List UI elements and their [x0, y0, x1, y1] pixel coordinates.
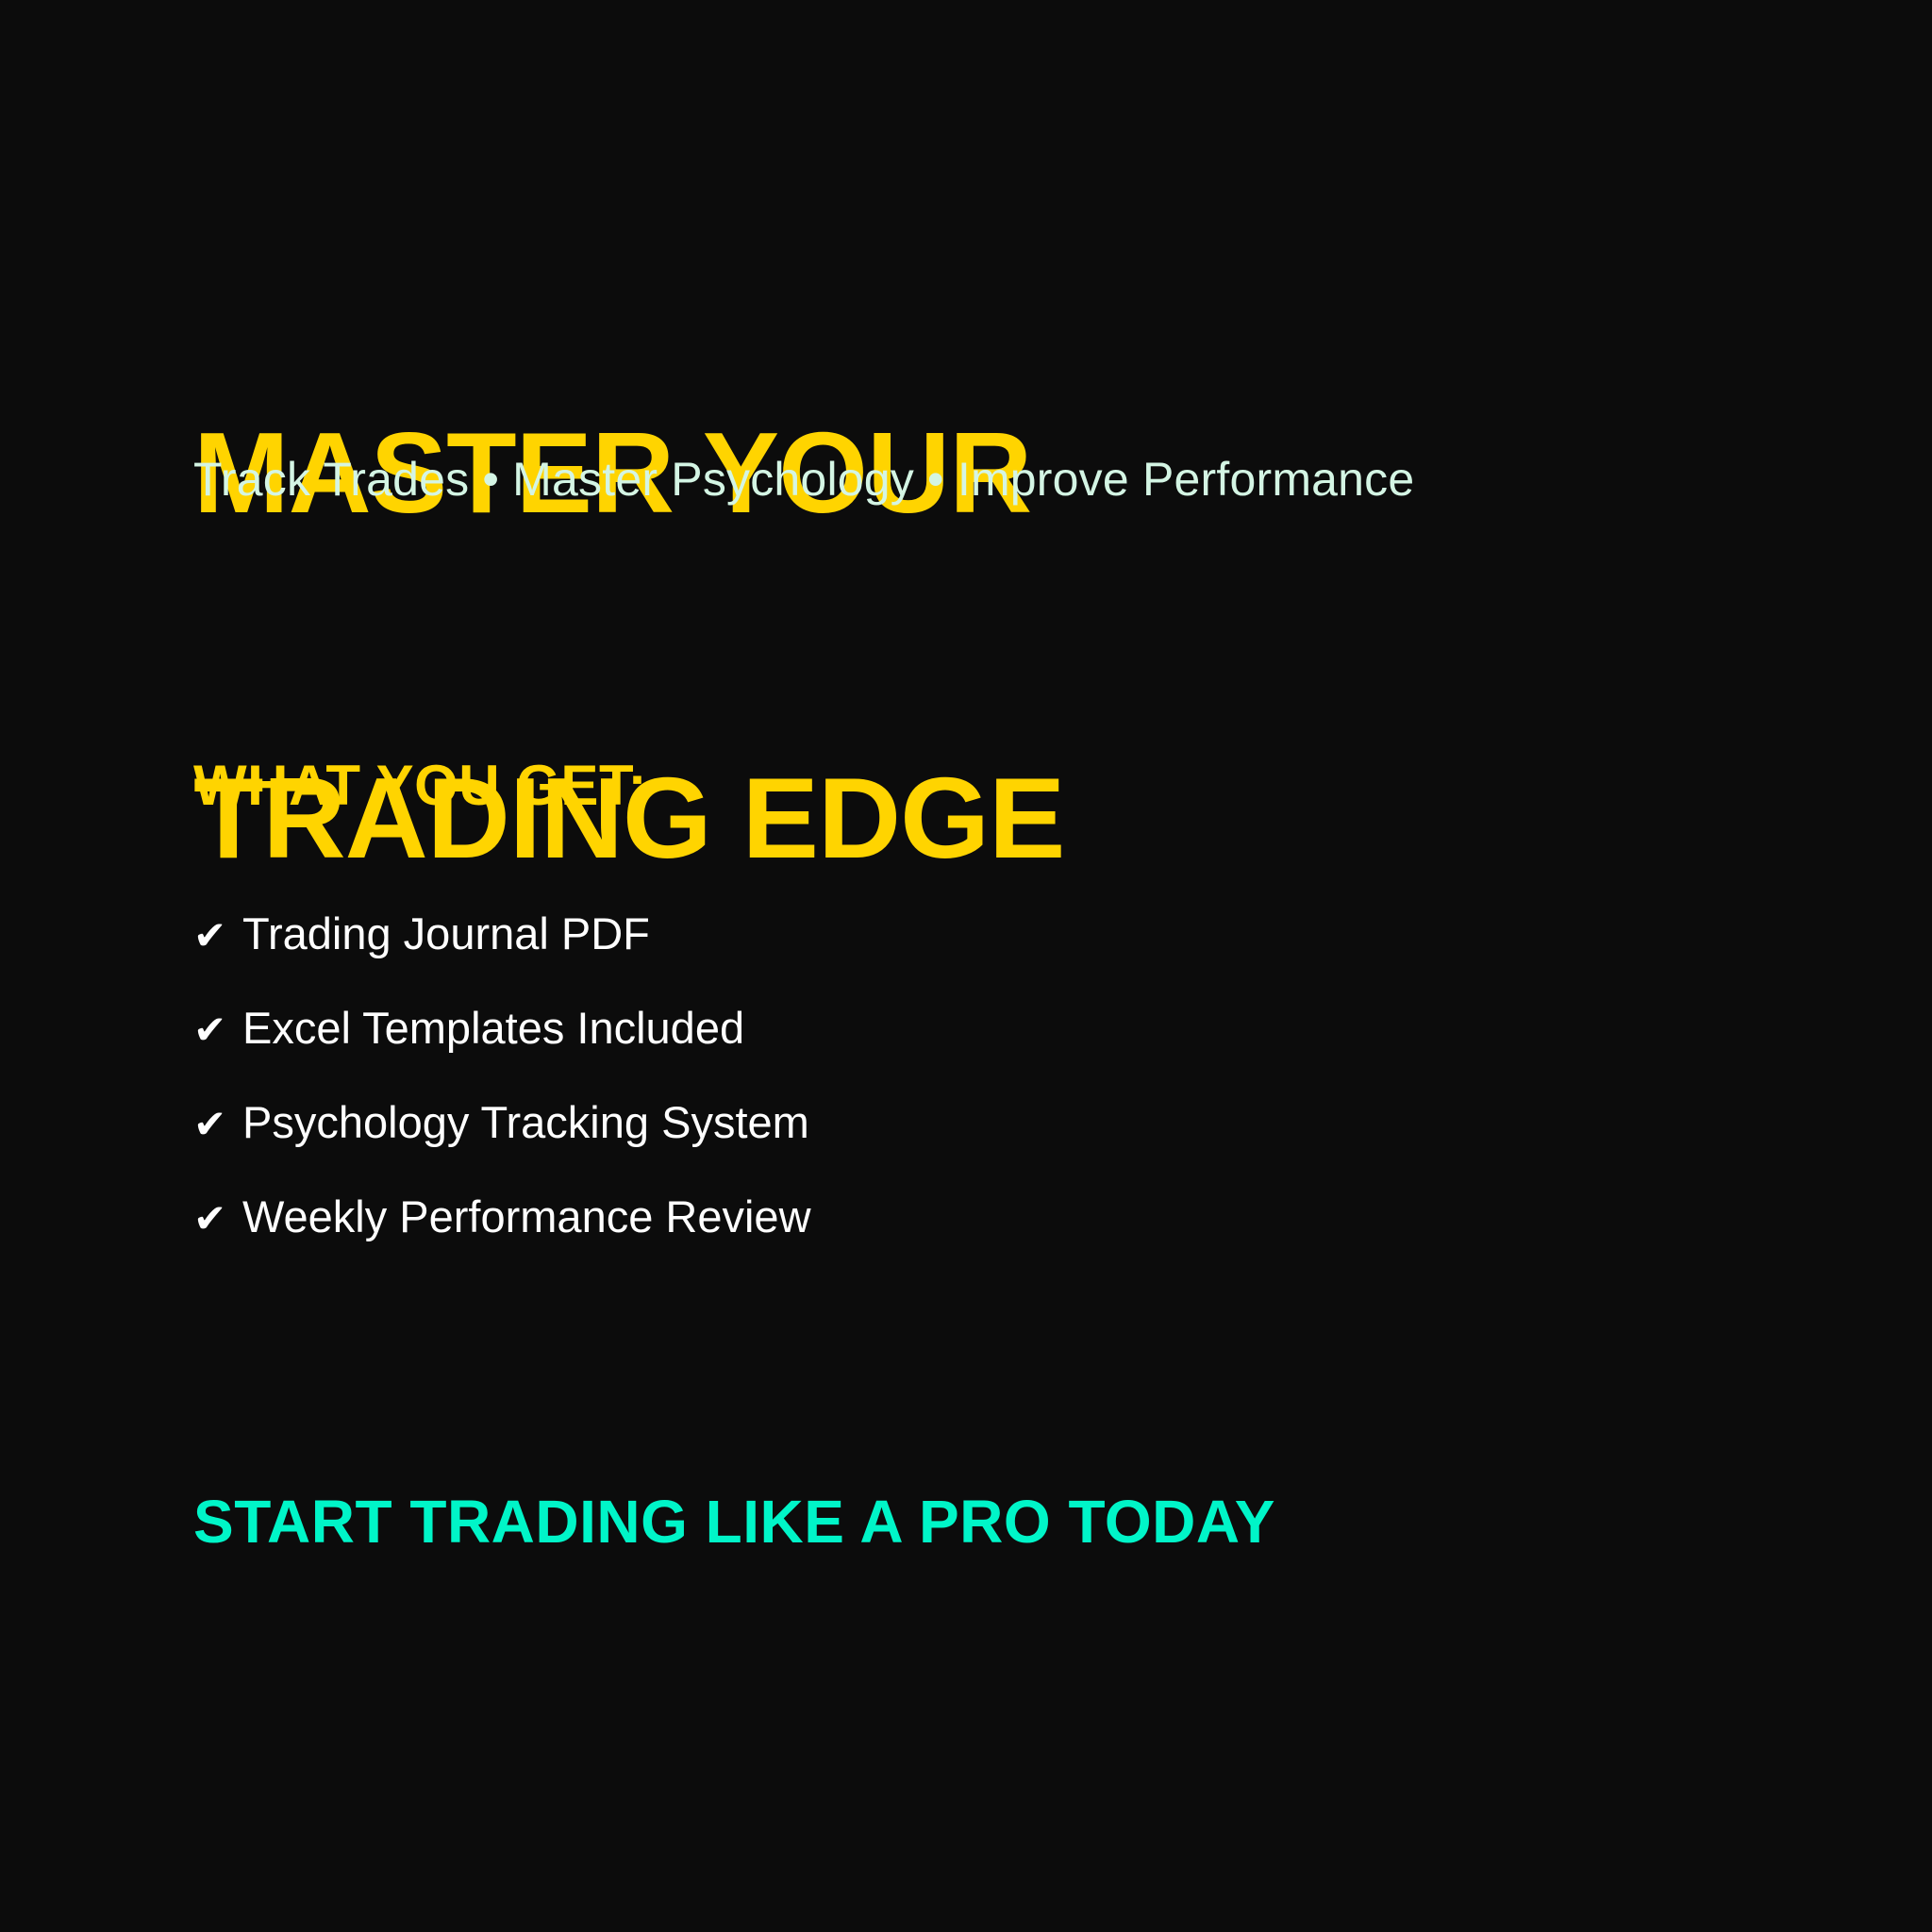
benefits-heading: WHAT YOU GET: [193, 755, 647, 817]
check-icon: ✔ [193, 1172, 242, 1266]
cta-text: START TRADING LIKE A PRO TODAY [193, 1489, 1275, 1555]
list-item: ✔ Trading Journal PDF [193, 887, 811, 981]
list-item: ✔ Weekly Performance Review [193, 1170, 811, 1264]
subtitle: Track Trades • Master Psychology • Impro… [193, 451, 1414, 508]
benefit-label: Trading Journal PDF [242, 887, 650, 981]
list-item: ✔ Excel Templates Included [193, 981, 811, 1075]
benefits-list: ✔ Trading Journal PDF ✔ Excel Templates … [193, 887, 811, 1264]
check-icon: ✔ [193, 889, 242, 983]
promo-poster: MASTER YOUR TRADING EDGE Track Trades • … [0, 0, 1932, 1932]
benefit-label: Weekly Performance Review [242, 1170, 811, 1264]
check-icon: ✔ [193, 1077, 242, 1172]
check-icon: ✔ [193, 983, 242, 1077]
list-item: ✔ Psychology Tracking System [193, 1075, 811, 1170]
benefit-label: Excel Templates Included [242, 981, 744, 1075]
benefit-label: Psychology Tracking System [242, 1075, 809, 1170]
